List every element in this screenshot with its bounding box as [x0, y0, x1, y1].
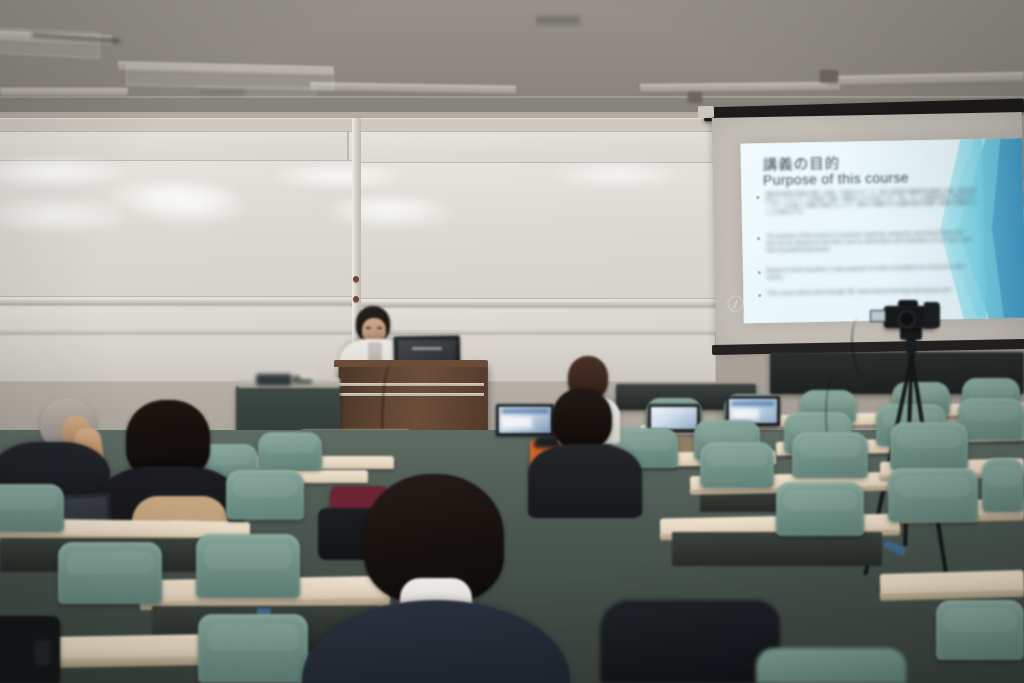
chair-near-right — [700, 442, 774, 488]
chair-foreground-left — [58, 542, 162, 604]
slide-bullet-japanese: 地質学の研究の過程で野外（現地）で取得するデータ（例えば岩相や地層境界の観察と評… — [765, 189, 979, 217]
audience-laptop-screen — [651, 407, 697, 429]
ceiling — [0, 0, 1024, 118]
camera-lens — [898, 310, 916, 328]
whiteboard-ledge — [0, 300, 360, 305]
screen-brand-logo-icon — [727, 295, 743, 311]
slide-bullet-english-2: Based on these practices, it also purpos… — [767, 264, 973, 282]
laptop-screen-titlebar — [501, 409, 549, 413]
ceiling-speaker — [820, 70, 838, 82]
slide-bullet-marker — [758, 294, 761, 297]
ceiling-panel — [0, 27, 100, 58]
av-console-equipment — [300, 372, 316, 379]
chair-foreground-right — [936, 600, 1024, 660]
audience-jacket — [528, 444, 642, 518]
backpack-on-floor — [0, 616, 60, 683]
slide-bullet-marker — [756, 196, 759, 199]
chair-near-left — [0, 484, 64, 532]
presenter-eye-right — [377, 327, 382, 329]
laptop-screen-titlebar — [731, 401, 775, 406]
ceiling-seam — [0, 96, 1024, 98]
chair-near-right — [792, 432, 868, 478]
slide-title-english: Purpose of this course — [763, 169, 909, 188]
slide-bullet-marker — [758, 271, 761, 274]
chair-near-left — [226, 470, 304, 520]
chair-foreground-silhouette — [756, 648, 906, 683]
podium-laptop-screen-content — [412, 347, 442, 350]
projection-screen-surface: 講義の目的 Purpose of this course 地質学の研究の過程で野… — [712, 112, 1024, 350]
ceiling-vent — [536, 16, 580, 25]
whiteboard-ledge — [352, 302, 720, 307]
lecture-hall-photo: 講義の目的 Purpose of this course 地質学の研究の過程で野… — [0, 0, 1024, 683]
podium-trim — [338, 383, 484, 386]
chair-near-right — [890, 422, 968, 470]
presentation-slide: 講義の目的 Purpose of this course 地質学の研究の過程で野… — [740, 138, 1024, 323]
laptop-screen-content — [733, 409, 759, 419]
desk-underside — [672, 532, 882, 566]
slide-bullet-english-3: This course will be done through TBL (te… — [767, 287, 973, 298]
backpack-strap — [34, 640, 50, 666]
ceiling-vent — [197, 89, 245, 96]
presenter-eye-left — [366, 327, 371, 329]
whiteboard-reflection — [330, 194, 442, 220]
whiteboard-reflection — [272, 163, 402, 189]
chair-nearest-right — [982, 458, 1024, 512]
slide-bullet-marker — [757, 237, 760, 240]
tripod-head — [900, 326, 922, 340]
whiteboard-reflection — [130, 186, 250, 226]
chair-mid-left — [258, 432, 322, 470]
podium-trim — [338, 393, 484, 396]
camera-viewfinder — [898, 300, 918, 308]
whiteboard-reflection — [554, 162, 680, 188]
whiteboard-knob — [353, 296, 359, 302]
camera-flip-screen — [870, 310, 886, 322]
chair-nearest-right — [888, 468, 978, 522]
podium-top-surface — [334, 360, 488, 367]
slide-bullet-english-1: The purpose of this course is to practic… — [766, 230, 972, 255]
ceiling-light-fixture — [0, 88, 128, 96]
camera-grip — [924, 302, 940, 328]
chair-nearest-right — [776, 482, 864, 536]
chair-foreground-left — [196, 534, 300, 598]
whiteboard-knob — [353, 276, 359, 282]
foreground-dark-object — [600, 600, 780, 683]
ceiling-speaker — [688, 92, 702, 102]
projection-screen-mount — [698, 106, 714, 118]
chair-bottom-left — [198, 614, 308, 683]
audience-hair — [552, 388, 612, 450]
laptop-screen-content — [502, 417, 532, 428]
av-console-equipment — [256, 374, 292, 386]
whiteboard-panel-main-right — [352, 162, 720, 306]
